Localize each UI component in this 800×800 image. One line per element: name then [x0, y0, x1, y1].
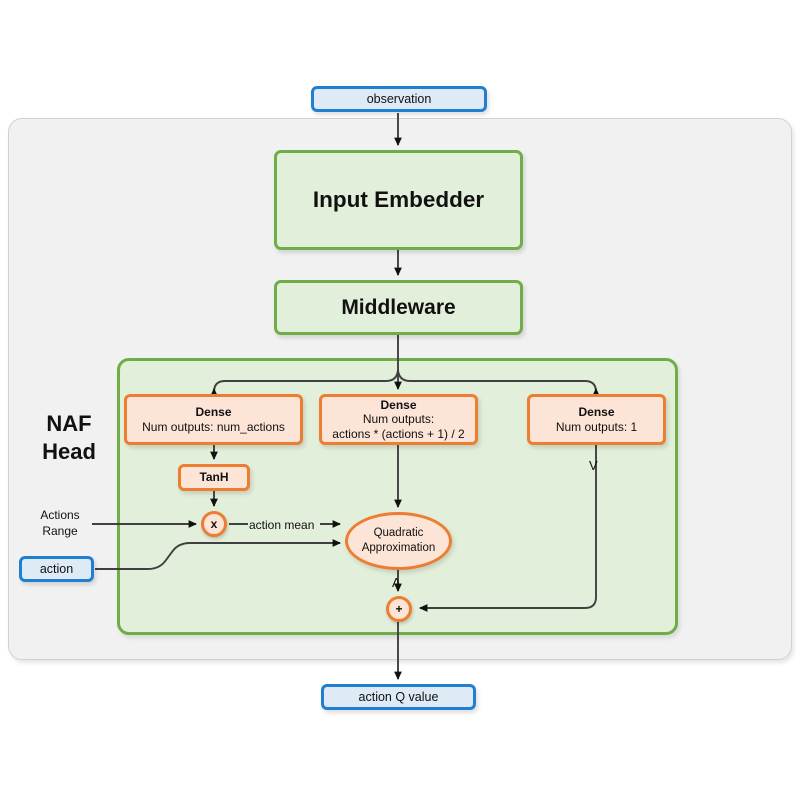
actions-range-label: Actions Range	[28, 508, 92, 539]
dense-mu-node[interactable]: Dense Num outputs: num_actions	[124, 394, 303, 445]
dense-mu-title: Dense	[195, 405, 231, 420]
dense-l-node[interactable]: Dense Num outputs: actions * (actions + …	[319, 394, 478, 445]
action-input-label: action	[40, 562, 73, 576]
quadratic-approximation-node[interactable]: Quadratic Approximation	[345, 512, 452, 570]
input-embedder-label: Input Embedder	[313, 187, 484, 213]
dense-l-subtitle-line1: Num outputs:	[363, 412, 434, 427]
value-v-label: V	[589, 458, 598, 473]
multiply-operator-label: x	[211, 517, 218, 531]
middleware-node[interactable]: Middleware	[274, 280, 523, 335]
action-q-value-label: action Q value	[359, 690, 439, 704]
input-embedder-node[interactable]: Input Embedder	[274, 150, 523, 250]
add-operator-label: +	[395, 602, 402, 616]
action-q-value-node[interactable]: action Q value	[321, 684, 476, 710]
quadratic-approximation-line2: Approximation	[362, 541, 436, 556]
tanh-activation-node[interactable]: TanH	[178, 464, 250, 491]
observation-input-node[interactable]: observation	[311, 86, 487, 112]
middleware-label: Middleware	[341, 296, 455, 320]
dense-mu-subtitle: Num outputs: num_actions	[142, 420, 285, 435]
dense-v-title: Dense	[578, 405, 614, 420]
dense-l-title: Dense	[380, 398, 416, 413]
naf-head-label: NAF Head	[26, 410, 112, 465]
observation-label: observation	[367, 92, 432, 106]
action-mean-label: action mean	[249, 518, 314, 532]
tanh-label: TanH	[199, 470, 228, 485]
naf-head-label-line1: NAF	[26, 410, 112, 438]
action-input-node[interactable]: action	[19, 556, 94, 582]
multiply-operator-node[interactable]: x	[201, 511, 227, 537]
dense-v-node[interactable]: Dense Num outputs: 1	[527, 394, 666, 445]
dense-v-subtitle: Num outputs: 1	[556, 420, 637, 435]
advantage-a-label: A	[392, 575, 401, 590]
dense-l-subtitle-line2: actions * (actions + 1) / 2	[332, 427, 464, 442]
naf-head-label-line2: Head	[26, 438, 112, 466]
diagram-canvas: observation Input Embedder Middleware NA…	[0, 0, 800, 800]
add-operator-node[interactable]: +	[386, 596, 412, 622]
actions-range-line2: Range	[28, 524, 92, 540]
quadratic-approximation-line1: Quadratic	[374, 526, 424, 541]
actions-range-line1: Actions	[28, 508, 92, 524]
